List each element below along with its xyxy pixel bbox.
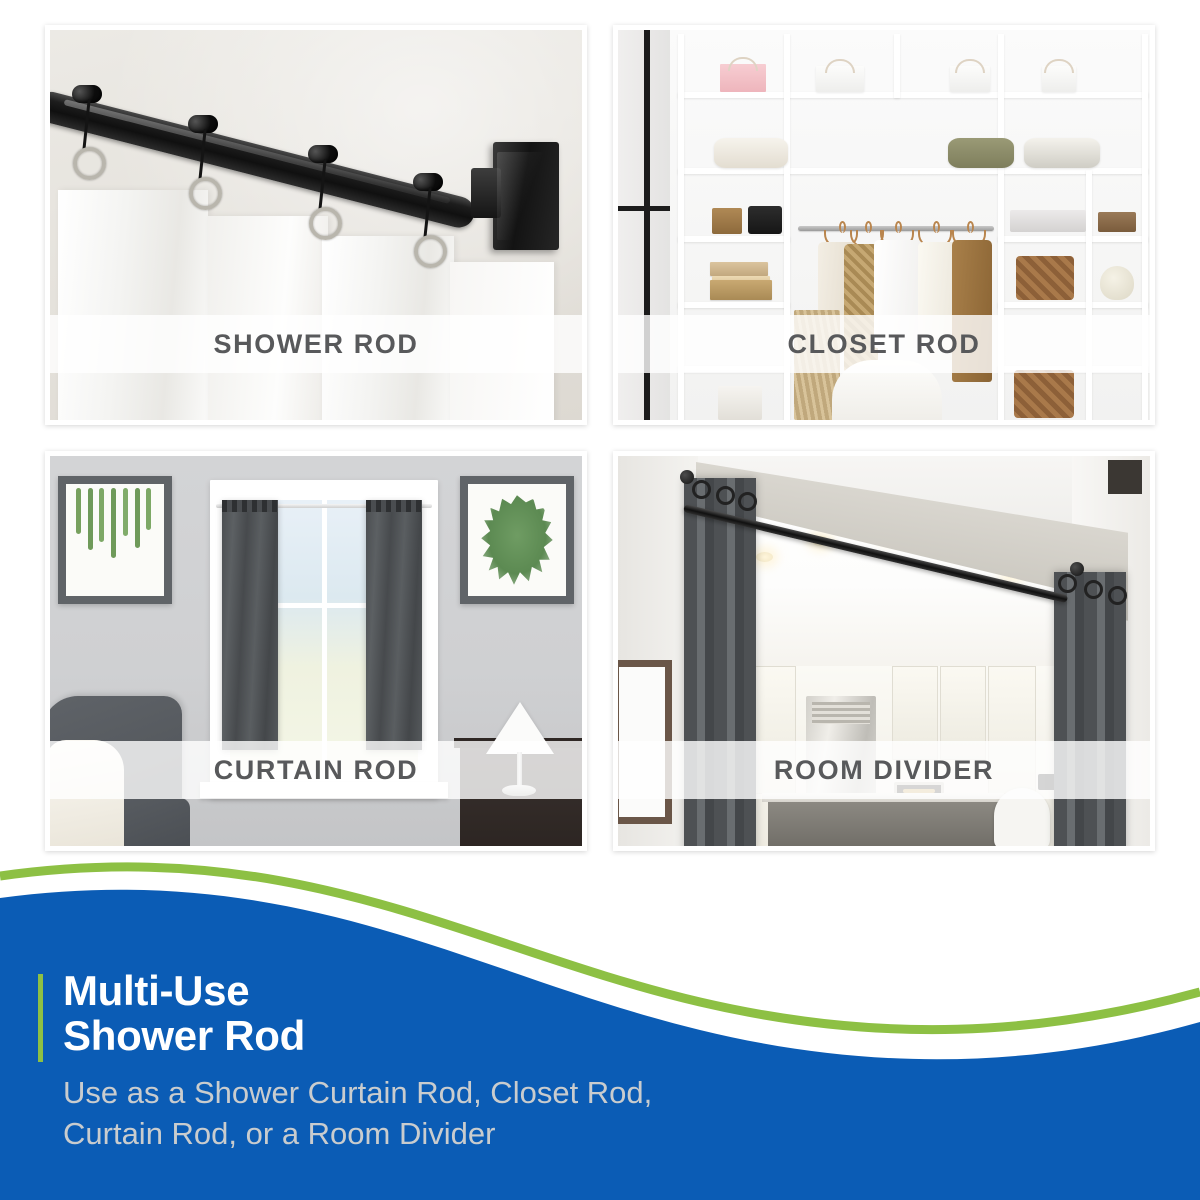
closet-item-white-bag [950, 66, 990, 92]
rod-wall-flange [493, 142, 559, 250]
closet-item-leather-case [1098, 212, 1136, 232]
curtain-grommet [738, 492, 757, 511]
vine-strand [111, 488, 116, 558]
card-room-divider[interactable]: ROOM DIVIDER [613, 451, 1155, 851]
closet-divider [1086, 170, 1092, 420]
closet-item-olive-pillow [948, 138, 1014, 168]
curtain-hook [308, 145, 338, 163]
closet-shelf [998, 302, 1148, 308]
closet-shelf [678, 302, 790, 308]
closet-shelf [678, 92, 1148, 98]
closet-item-woven-basket [1014, 370, 1074, 418]
rod-ceiling-bracket [680, 470, 694, 484]
closet-item-wood-box [710, 262, 768, 276]
closet-item-pink-bag [720, 64, 766, 92]
closet-item-hat [1100, 266, 1134, 300]
monstera-leaf-icon [480, 495, 554, 585]
closet-item-wood-box [710, 280, 772, 300]
vine-strand [146, 488, 151, 530]
card-closet-rod[interactable]: CLOSET ROD [613, 25, 1155, 425]
closet-item-linens [714, 138, 788, 168]
curtain-grommet-ring [414, 235, 447, 268]
art-mat [468, 484, 566, 596]
banner-title-line-2: Shower Rod [63, 1013, 1138, 1058]
green-accent-bar [38, 974, 43, 1062]
shower-curtain-panel [58, 190, 208, 420]
curtain-grommet [1108, 586, 1127, 605]
vine-strand [123, 488, 128, 536]
vine-strand [88, 488, 93, 550]
curtain-hook [188, 115, 218, 133]
banner-subtitle: Use as a Shower Curtain Rod, Closet Rod,… [38, 1072, 1138, 1154]
curtain-hook [72, 85, 102, 103]
curtain-grommet-ring [309, 207, 342, 240]
rod-ceiling-bracket [1070, 562, 1084, 576]
vine-strand [76, 488, 81, 534]
closet-shelf [998, 236, 1148, 242]
card-label-band: ROOM DIVIDER [618, 741, 1150, 799]
fridge-vent-grille [812, 702, 870, 724]
wall-art-vines [58, 476, 172, 604]
closet-item-white-bag [1042, 66, 1076, 92]
closet-shelf [678, 168, 1148, 174]
card-label-band: CLOSET ROD [618, 315, 1150, 373]
card-label-closet-rod: CLOSET ROD [787, 329, 980, 360]
feature-image-grid: SHOWER ROD [45, 25, 1155, 840]
closet-item-patterned-pillow [1024, 138, 1100, 168]
card-label-band: SHOWER ROD [50, 315, 582, 373]
curtain-grommet-ring [189, 177, 222, 210]
banner-title-line-1: Multi-Use [63, 968, 1138, 1013]
banner-text-block: Multi-Use Shower Rod Use as a Shower Cur… [38, 968, 1138, 1154]
curtain-grommet [692, 480, 711, 499]
vine-strand [99, 488, 104, 542]
kitchen-island [768, 800, 998, 846]
card-label-shower-rod: SHOWER ROD [214, 329, 419, 360]
upper-wall-art [1108, 460, 1142, 494]
card-curtain-rod[interactable]: CURTAIN ROD [45, 451, 587, 851]
card-label-room-divider: ROOM DIVIDER [774, 755, 994, 786]
curtain-panel-left [222, 500, 278, 750]
card-label-curtain-rod: CURTAIN ROD [214, 755, 419, 786]
closet-item-white-bag [816, 66, 864, 92]
closet-item-woven-box [712, 208, 742, 234]
closet-divider [894, 34, 900, 98]
vine-strand [135, 488, 140, 548]
card-shower-rod[interactable]: SHOWER ROD [45, 25, 587, 425]
door-mullion-horizontal [618, 206, 670, 211]
divider-curtain-right [1054, 572, 1126, 846]
curtain-grommet [716, 486, 735, 505]
curtain-grommet-ring [73, 147, 106, 180]
banner-subtitle-line-1: Use as a Shower Curtain Rod, Closet Rod, [63, 1072, 1138, 1113]
closet-item-black-sandals [748, 206, 782, 234]
card-label-band: CURTAIN ROD [50, 741, 582, 799]
banner-title: Multi-Use Shower Rod [38, 968, 1138, 1059]
art-mat [66, 484, 164, 596]
closet-shelf [678, 236, 790, 242]
curtain-hook [413, 173, 443, 191]
recessed-light [756, 552, 773, 562]
wall-art-monstera [460, 476, 574, 604]
curtain-panel-right [366, 500, 422, 750]
curtain-grommet [1084, 580, 1103, 599]
banner-subtitle-line-2: Curtain Rod, or a Room Divider [63, 1113, 1138, 1154]
closet-item-handbag [718, 386, 762, 420]
window-mullion-vertical [322, 500, 327, 770]
closet-item-folded-textiles [1010, 210, 1086, 232]
curtain-grommet [1058, 574, 1077, 593]
closet-item-woven-basket [1016, 256, 1074, 300]
